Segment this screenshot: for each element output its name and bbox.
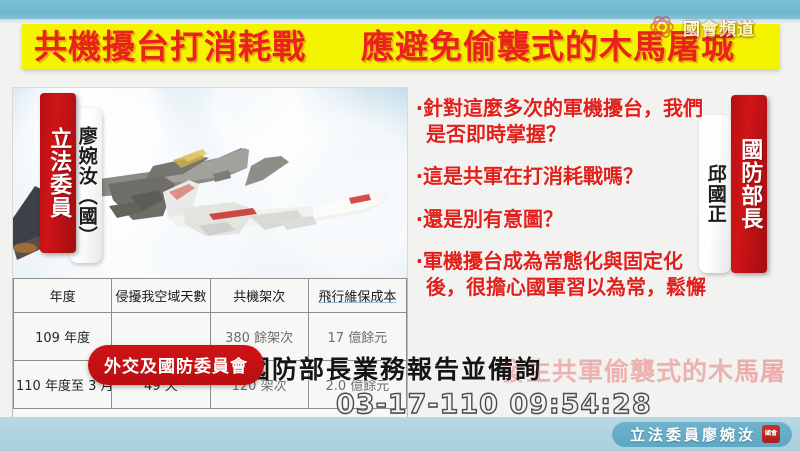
speaker-name-label: 立法委員廖婉汝 [630, 424, 756, 445]
timestamp-overlay: 03-17-110 09:54:28 [336, 389, 652, 420]
left-title-text: 立法委員 [47, 127, 69, 219]
col-header-cost: 飛行維保成本 [308, 279, 406, 313]
headline-part-1: 共機擾台打消耗戰 [34, 27, 306, 66]
right-title-plate: 國防部長 [731, 95, 767, 273]
left-name-text: 廖婉汝（國） [76, 126, 95, 246]
committee-badge-label: 外交及國防委員會 [104, 357, 248, 377]
channel-mark-icon: 國會 [762, 425, 780, 443]
bullet-line-1: 軍機擾台成為常態化與固定化 [423, 249, 683, 273]
right-name-plate: 邱國正 [699, 115, 731, 273]
bottom-bar: 立法委員廖婉汝 國會 [0, 417, 800, 451]
col-header-sorties: 共機架次 [210, 279, 308, 313]
headline-text: 共機擾台打消耗戰 應避免偷襲式的木馬屠城 [22, 30, 735, 63]
right-title-text: 國防部長 [738, 138, 760, 230]
timestamp-value: 03-17-110 09:54:28 [336, 389, 652, 420]
broadcast-screen: 共機擾台打消耗戰 應避免偷襲式的木馬屠城 國會頻道 [0, 0, 800, 451]
session-title: 國防部長業務報告並備詢 [245, 350, 542, 386]
bullet-line-1: 還是別有意圖？ [423, 207, 563, 231]
table-header-row: 年度 侵擾我空域天數 共機架次 飛行維保成本 [14, 279, 407, 313]
bullet-line-2: 後，很擔心國軍習以為常，鬆懈 [416, 275, 788, 301]
headline-banner: 共機擾台打消耗戰 應避免偷襲式的木馬屠城 [22, 24, 780, 69]
right-name-text: 邱國正 [705, 164, 724, 224]
ghost-text-strong: 馬屠 [734, 357, 786, 386]
bullet-line-1: 這是共軍在打消耗戰嗎？ [423, 164, 643, 188]
committee-badge: 外交及國防委員會 [88, 345, 264, 385]
bullet-line-1: 針對這麼多次的軍機擾台，我們 [423, 96, 703, 120]
col-header-days: 侵擾我空域天數 [112, 279, 210, 313]
headline-part-2: 應避免偷襲式的木馬屠城 [361, 27, 735, 66]
bullet-marker: ‧ [416, 164, 423, 188]
bullet-marker: ‧ [416, 249, 423, 273]
bullet-marker: ‧ [416, 207, 423, 231]
ghost-transition-text: 發生共軍偷襲式的木馬屠 [500, 352, 786, 388]
top-strip-edge [0, 19, 800, 23]
white-bomber-jet [163, 180, 389, 236]
speaker-name-pill: 立法委員廖婉汝 國會 [612, 421, 792, 447]
session-title-label: 國防部長業務報告並備詢 [245, 355, 542, 384]
bullet-marker: ‧ [416, 96, 423, 120]
col-header-year: 年度 [14, 279, 112, 313]
left-title-plate: 立法委員 [40, 93, 76, 253]
